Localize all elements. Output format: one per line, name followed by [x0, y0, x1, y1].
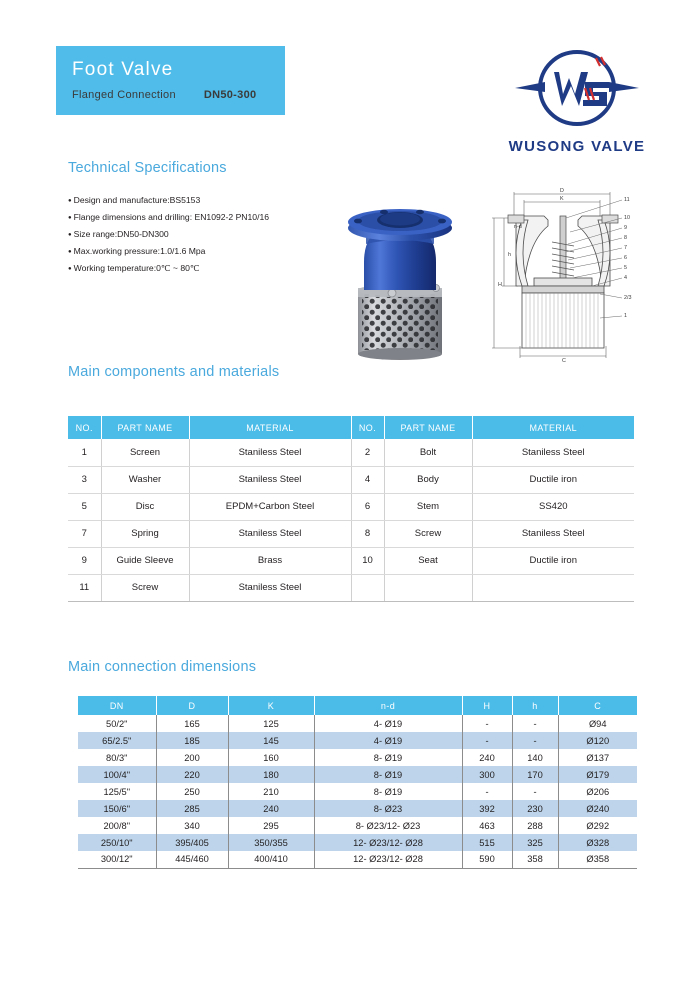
table-cell: 170	[512, 766, 558, 783]
table-cell: Stem	[384, 493, 472, 520]
table-cell: Ø358	[558, 851, 637, 868]
table-cell: 8- Ø19	[314, 749, 462, 766]
table-cell: Staniless Steel	[189, 574, 351, 601]
table-cell: Disc	[101, 493, 189, 520]
size-range-label: DN50-300	[204, 89, 257, 101]
wusong-logo-icon	[497, 44, 657, 136]
table-row: 250/10"395/405350/35512- Ø23/12- Ø285153…	[78, 834, 637, 851]
column-header: NO.	[351, 416, 384, 439]
column-header: PART NAME	[384, 416, 472, 439]
drawing-callout: 10	[624, 215, 630, 221]
table-cell: 165	[156, 715, 228, 732]
table-cell: Screen	[101, 439, 189, 466]
table-cell: 9	[68, 547, 101, 574]
table-cell: -	[462, 783, 512, 800]
table-row: 5DiscEPDM+Carbon Steel6StemSS420	[68, 493, 634, 520]
section-heading-components: Main components and materials	[68, 364, 279, 380]
table-cell: Screw	[384, 520, 472, 547]
connection-type-label: Flanged Connection	[72, 89, 176, 101]
table-cell: EPDM+Carbon Steel	[189, 493, 351, 520]
table-header-row: DNDKn-dHhC	[78, 696, 637, 715]
table-cell: Brass	[189, 547, 351, 574]
table-cell: 1	[68, 439, 101, 466]
table-cell: 358	[512, 851, 558, 868]
table-cell: 3	[68, 466, 101, 493]
drawing-callout: 11	[624, 197, 630, 203]
table-cell: 340	[156, 817, 228, 834]
table-cell: 80/3"	[78, 749, 156, 766]
table-cell: 300	[462, 766, 512, 783]
drawing-callout: 5	[624, 265, 627, 271]
table-cell: Ø179	[558, 766, 637, 783]
table-cell: Ø94	[558, 715, 637, 732]
table-cell: Washer	[101, 466, 189, 493]
table-cell: 300/12"	[78, 851, 156, 868]
drawing-dimension-label: n-d	[514, 224, 522, 230]
section-heading-technical: Technical Specifications	[68, 160, 227, 176]
table-cell: Staniless Steel	[472, 439, 634, 466]
table-cell: Bolt	[384, 439, 472, 466]
components-materials-table: NO.PART NAMEMATERIALNO.PART NAMEMATERIAL…	[68, 416, 634, 602]
table-row: 7SpringStaniless Steel8ScrewStaniless St…	[68, 520, 634, 547]
table-row: 150/6"2852408- Ø23392230Ø240	[78, 800, 637, 817]
table-cell: 65/2.5"	[78, 732, 156, 749]
table-cell: -	[462, 732, 512, 749]
table-cell: 325	[512, 834, 558, 851]
table-cell: Ø137	[558, 749, 637, 766]
column-header: DN	[78, 696, 156, 715]
table-cell: 150/6"	[78, 800, 156, 817]
column-header: NO.	[68, 416, 101, 439]
table-cell: 8- Ø23/12- Ø23	[314, 817, 462, 834]
table-cell: 200	[156, 749, 228, 766]
drawing-callout: 9	[624, 225, 627, 231]
spec-bullet: Design and manufacture:BS5153	[68, 192, 348, 209]
table-cell: 250/10"	[78, 834, 156, 851]
table-cell: 288	[512, 817, 558, 834]
table-cell: 125	[228, 715, 314, 732]
spec-bullet: Max.working pressure:1.0/1.6 Mpa	[68, 243, 348, 260]
table-cell	[351, 574, 384, 601]
column-header: MATERIAL	[189, 416, 351, 439]
table-row: 9Guide SleeveBrass10SeatDuctile iron	[68, 547, 634, 574]
page-title: Foot Valve	[72, 58, 285, 82]
connection-dimensions-table: DNDKn-dHhC 50/2"1651254- Ø19--Ø9465/2.5"…	[78, 696, 637, 869]
drawing-dimension-label: H	[498, 282, 502, 288]
product-photo	[336, 188, 464, 360]
table-cell: -	[512, 732, 558, 749]
table-cell: Ductile iron	[472, 547, 634, 574]
title-banner: Foot Valve Flanged Connection DN50-300	[56, 46, 285, 115]
table-cell: 2	[351, 439, 384, 466]
table-cell: 5	[68, 493, 101, 520]
table-row: 80/3"2001608- Ø19240140Ø137	[78, 749, 637, 766]
drawing-dimension-label: C	[562, 358, 566, 364]
drawing-callout: 1	[624, 313, 627, 319]
column-header: h	[512, 696, 558, 715]
table-cell: 8- Ø23	[314, 800, 462, 817]
table-cell: 463	[462, 817, 512, 834]
drawing-callout: 7	[624, 245, 627, 251]
table-cell: 7	[68, 520, 101, 547]
table-cell: 4- Ø19	[314, 732, 462, 749]
table-cell: Ø240	[558, 800, 637, 817]
column-header: PART NAME	[101, 416, 189, 439]
column-header: n-d	[314, 696, 462, 715]
table-row: 11ScrewStaniless Steel	[68, 574, 634, 601]
table-cell: Ø292	[558, 817, 637, 834]
column-header: C	[558, 696, 637, 715]
table-cell: 400/410	[228, 851, 314, 868]
table-cell: 240	[462, 749, 512, 766]
table-cell: 230	[512, 800, 558, 817]
table-cell: 8- Ø19	[314, 783, 462, 800]
table-cell: Staniless Steel	[472, 520, 634, 547]
table-cell: 395/405	[156, 834, 228, 851]
table-cell: 12- Ø23/12- Ø28	[314, 851, 462, 868]
table-row: 125/5"2502108- Ø19--Ø206	[78, 783, 637, 800]
table-cell: 12- Ø23/12- Ø28	[314, 834, 462, 851]
table-cell: 210	[228, 783, 314, 800]
table-cell: 350/355	[228, 834, 314, 851]
table-cell: Ø328	[558, 834, 637, 851]
table-header-row: NO.PART NAMEMATERIALNO.PART NAMEMATERIAL	[68, 416, 634, 439]
table-cell: 445/460	[156, 851, 228, 868]
drawing-dimension-label: K	[560, 196, 564, 202]
table-cell: 4- Ø19	[314, 715, 462, 732]
table-row: 65/2.5"1851454- Ø19--Ø120	[78, 732, 637, 749]
drawing-dimension-label: h	[508, 252, 511, 258]
drawing-callout: 6	[624, 255, 627, 261]
table-row: 300/12"445/460400/41012- Ø23/12- Ø285903…	[78, 851, 637, 868]
table-cell: -	[512, 715, 558, 732]
table-cell: 180	[228, 766, 314, 783]
drawing-callout: 4	[624, 275, 627, 281]
table-cell: Ø120	[558, 732, 637, 749]
table-cell: 392	[462, 800, 512, 817]
table-cell: 10	[351, 547, 384, 574]
table-cell	[472, 574, 634, 601]
table-cell: 100/4"	[78, 766, 156, 783]
brand-logo: WUSONG VALVE	[497, 44, 657, 155]
table-cell: 200/8"	[78, 817, 156, 834]
table-row: 50/2"1651254- Ø19--Ø94	[78, 715, 637, 732]
table-row: 200/8"3402958- Ø23/12- Ø23463288Ø292	[78, 817, 637, 834]
drawing-callout: 2/3	[624, 295, 632, 301]
column-header: H	[462, 696, 512, 715]
table-cell: 8	[351, 520, 384, 547]
technical-drawing: 11109876542/31 DKHhCn-d	[482, 186, 644, 364]
table-cell: 220	[156, 766, 228, 783]
table-row: 1ScreenStaniless Steel2BoltStaniless Ste…	[68, 439, 634, 466]
spec-bullet: Working temperature:0℃ ~ 80℃	[68, 260, 348, 277]
table-cell: 8- Ø19	[314, 766, 462, 783]
table-cell: 11	[68, 574, 101, 601]
table-cell: -	[512, 783, 558, 800]
table-cell: 4	[351, 466, 384, 493]
drawing-dimension-label: D	[560, 188, 564, 194]
table-cell: 515	[462, 834, 512, 851]
column-header: K	[228, 696, 314, 715]
table-cell: 6	[351, 493, 384, 520]
column-header: MATERIAL	[472, 416, 634, 439]
table-cell: 185	[156, 732, 228, 749]
table-cell: SS420	[472, 493, 634, 520]
table-cell: 240	[228, 800, 314, 817]
drawing-callout: 8	[624, 235, 627, 241]
table-cell: Staniless Steel	[189, 520, 351, 547]
table-cell: Guide Sleeve	[101, 547, 189, 574]
table-cell: Screw	[101, 574, 189, 601]
table-cell: Seat	[384, 547, 472, 574]
table-cell: 250	[156, 783, 228, 800]
table-cell: -	[462, 715, 512, 732]
table-cell: Spring	[101, 520, 189, 547]
section-heading-dimensions: Main connection dimensions	[68, 659, 256, 675]
table-cell: Body	[384, 466, 472, 493]
table-cell	[384, 574, 472, 601]
spec-bullet: Flange dimensions and drilling: EN1092-2…	[68, 209, 348, 226]
table-cell: Staniless Steel	[189, 439, 351, 466]
table-cell: 50/2"	[78, 715, 156, 732]
table-row: 100/4"2201808- Ø19300170Ø179	[78, 766, 637, 783]
technical-spec-list: Design and manufacture:BS5153Flange dime…	[68, 192, 348, 277]
table-cell: 145	[228, 732, 314, 749]
brand-name: WUSONG VALVE	[497, 138, 657, 155]
table-cell: 285	[156, 800, 228, 817]
spec-bullet: Size range:DN50-DN300	[68, 226, 348, 243]
column-header: D	[156, 696, 228, 715]
table-cell: 295	[228, 817, 314, 834]
table-row: 3WasherStaniless Steel4BodyDuctile iron	[68, 466, 634, 493]
table-cell: 140	[512, 749, 558, 766]
table-cell: Ductile iron	[472, 466, 634, 493]
table-cell: Staniless Steel	[189, 466, 351, 493]
table-cell: 590	[462, 851, 512, 868]
table-cell: 125/5"	[78, 783, 156, 800]
table-cell: 160	[228, 749, 314, 766]
table-cell: Ø206	[558, 783, 637, 800]
